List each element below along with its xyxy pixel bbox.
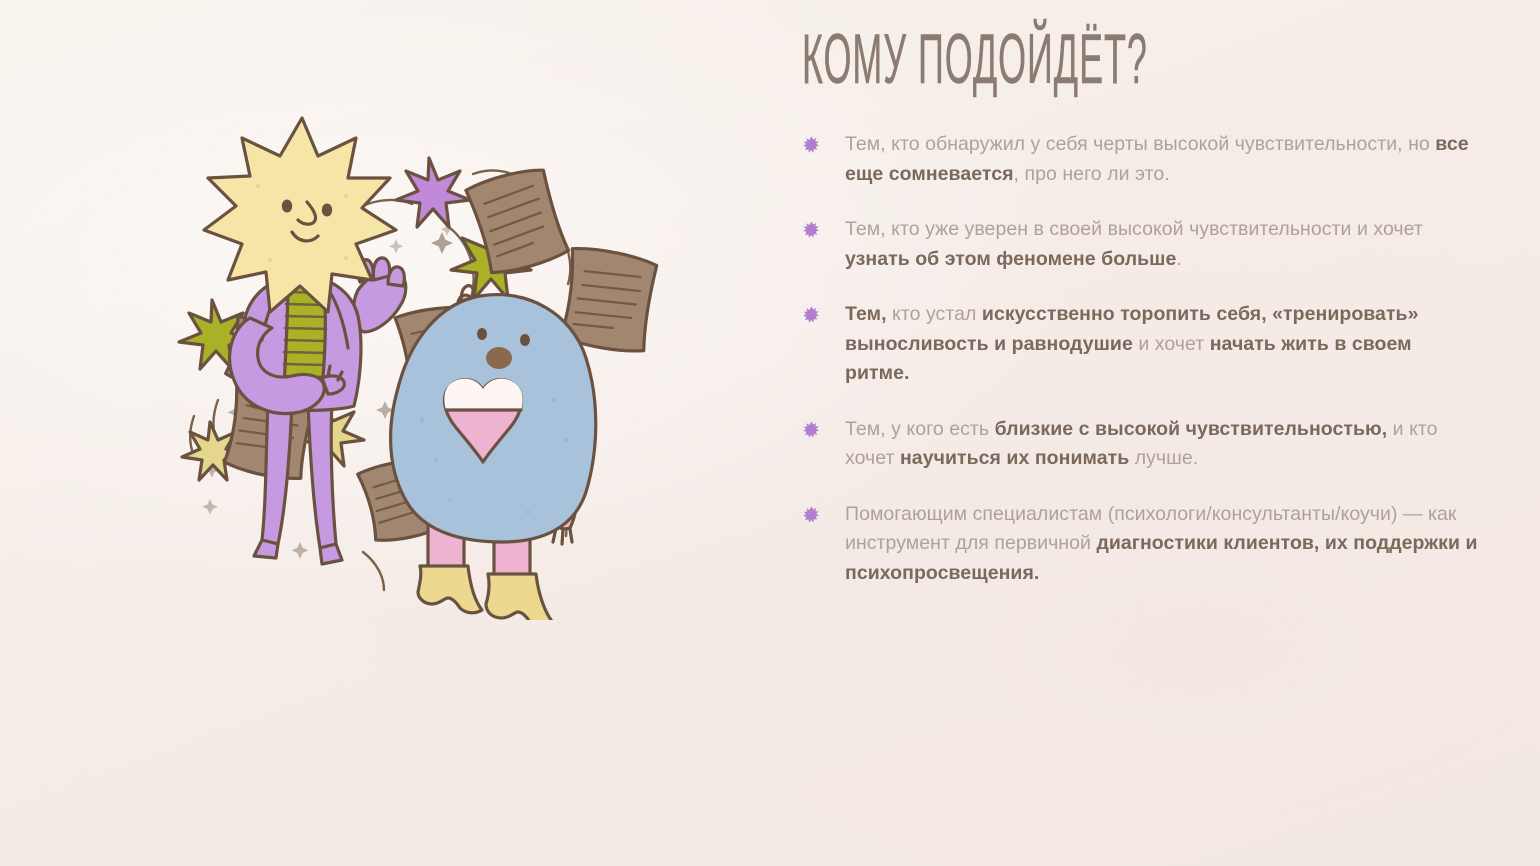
blob-eye-right xyxy=(520,334,530,346)
list-item: Тем, кто обнаружил у себя черты высокой … xyxy=(798,130,1478,189)
illustration: .ol { stroke:#6b5240; stroke-width:3.2; … xyxy=(150,100,710,620)
list-item: Тем, кто устал искусственно торопить себ… xyxy=(798,300,1478,389)
purple-star-bullet-icon xyxy=(803,421,820,438)
sun-eye-left xyxy=(282,200,292,213)
blob-eye-left xyxy=(477,328,487,340)
blob-nose xyxy=(486,347,512,369)
purple-star-bullet-icon xyxy=(803,136,820,153)
audience-bullet-list: Тем, кто обнаружил у себя черты высокой … xyxy=(798,130,1478,588)
purple-star-bullet-icon xyxy=(803,221,820,238)
list-item-text: Помогающим специалистам (психологи/консу… xyxy=(845,500,1478,589)
list-item-text: Тем, у кого есть близкие с высокой чувст… xyxy=(845,415,1478,474)
list-item: Тем, у кого есть близкие с высокой чувст… xyxy=(798,415,1478,474)
page-title: КОМУ ПОДОЙДЁТ? xyxy=(802,22,1221,95)
purple-star-bullet-icon xyxy=(803,306,820,323)
purple-star-bullet-icon xyxy=(803,506,820,523)
list-item-text: Тем, кто устал искусственно торопить себ… xyxy=(845,300,1478,389)
blue-blob-character xyxy=(391,286,596,620)
list-item: Помогающим специалистам (психологи/консу… xyxy=(798,500,1478,589)
sun-eye-right xyxy=(322,204,332,217)
list-item-text: Тем, кто уже уверен в своей высокой чувс… xyxy=(845,215,1478,274)
list-item: Тем, кто уже уверен в своей высокой чувс… xyxy=(798,215,1478,274)
content-column: КОМУ ПОДОЙДЁТ? Тем, кто обнаружил у себя… xyxy=(798,22,1478,588)
purple-star xyxy=(396,158,470,227)
list-item-text: Тем, кто обнаружил у себя черты высокой … xyxy=(845,130,1478,189)
